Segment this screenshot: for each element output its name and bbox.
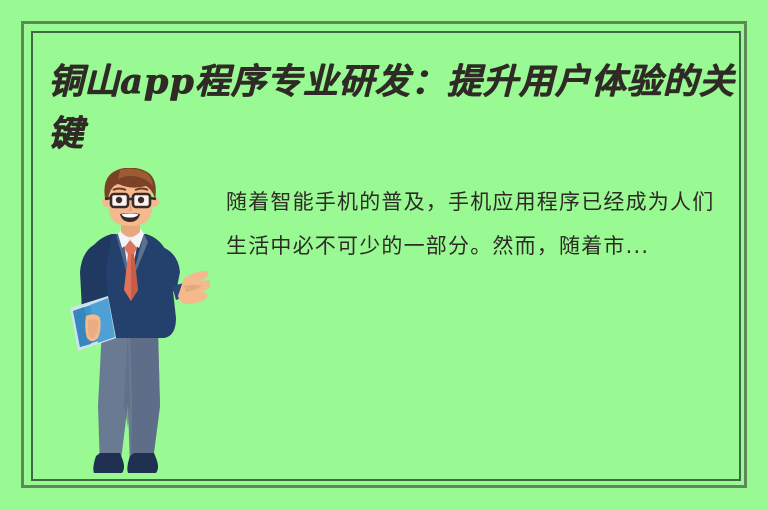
page-title: 铜山app程序专业研发：提升用户体验的关键 bbox=[48, 56, 738, 160]
article-card: 铜山app程序专业研发：提升用户体验的关键 随着智能手机的普及，手机应用程序已经… bbox=[0, 0, 768, 510]
shoes-shape bbox=[93, 453, 158, 473]
hand-on-book-shape bbox=[85, 314, 100, 341]
trousers-shape bbox=[98, 328, 160, 468]
head-shape bbox=[102, 168, 159, 226]
article-excerpt: 随着智能手机的普及，手机应用程序已经成为人们生活中必不可少的一部分。然而，随着市… bbox=[226, 180, 718, 268]
businessman-illustration bbox=[60, 168, 210, 478]
